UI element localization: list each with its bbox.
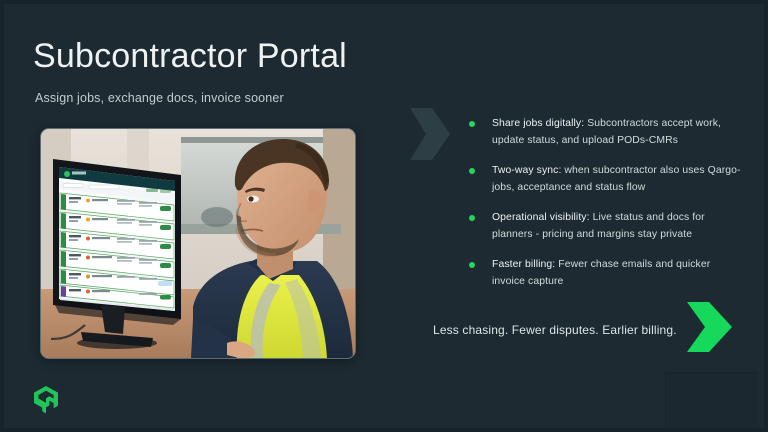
- bullet-dot-icon: [469, 121, 475, 127]
- list-item: Share jobs digitally: Subcontractors acc…: [467, 116, 745, 149]
- bullet-dot-icon: [469, 168, 475, 174]
- chevron-right-icon: [408, 106, 452, 162]
- page-title: Subcontractor Portal: [33, 35, 347, 77]
- page-subtitle: Assign jobs, exchange docs, invoice soon…: [35, 89, 284, 107]
- list-item: Two-way sync: when subcontractor also us…: [467, 163, 745, 196]
- bullet-lead: Faster billing:: [492, 259, 555, 270]
- chevron-right-icon-green: [687, 302, 732, 352]
- bullet-dot-icon: [469, 262, 475, 268]
- list-item: Faster billing: Fewer chase emails and q…: [467, 257, 745, 290]
- bullet-lead: Share jobs digitally:: [492, 118, 584, 129]
- bullet-lead: Two-way sync:: [492, 165, 561, 176]
- photo-illustration: [41, 129, 355, 358]
- qargo-logo-icon: [33, 386, 59, 414]
- chevron-right-icon-grey: [408, 106, 452, 162]
- feature-bullet-list: Share jobs digitally: Subcontractors acc…: [467, 116, 745, 290]
- bullet-dot-icon: [469, 215, 475, 221]
- chevron-right-icon: [687, 302, 732, 352]
- logo-mark: [33, 386, 59, 414]
- list-item: Operational visibility: Live status and …: [467, 210, 745, 243]
- presentation-slide: Subcontractor Portal Assign jobs, exchan…: [4, 4, 764, 428]
- corner-frame-decoration: [665, 372, 758, 428]
- bullet-lead: Operational visibility:: [492, 212, 590, 223]
- closing-tagline: Less chasing. Fewer disputes. Earlier bi…: [433, 321, 677, 339]
- hero-photo: [40, 128, 356, 359]
